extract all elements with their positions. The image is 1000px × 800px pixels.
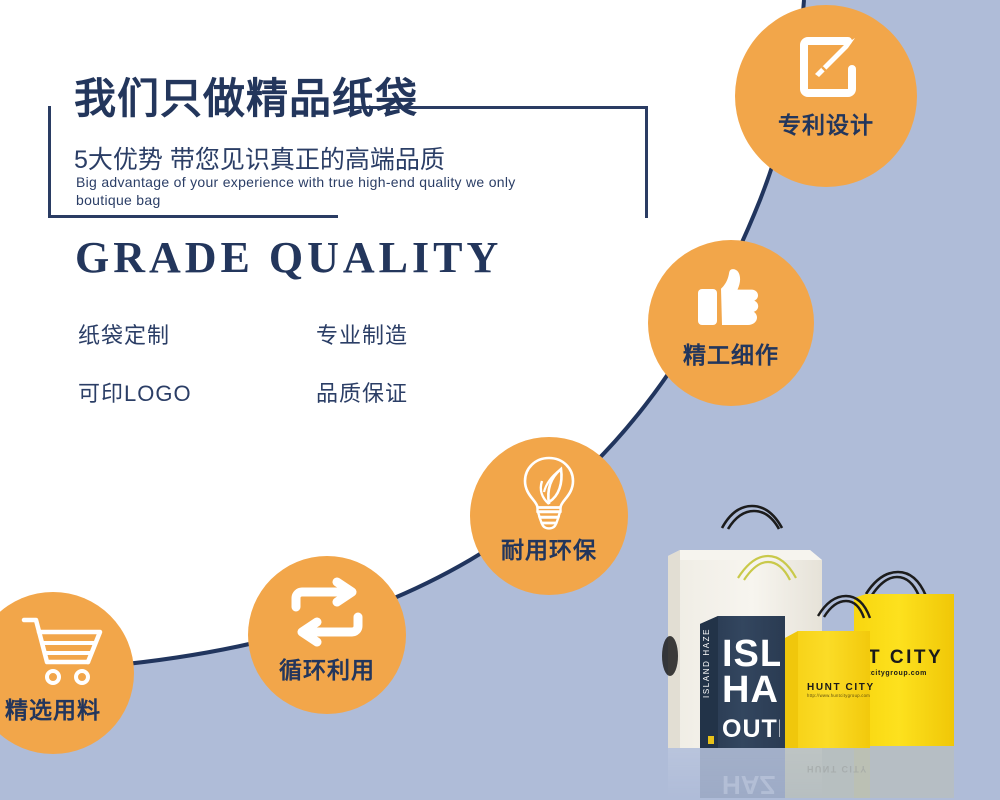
product-photo-paper-bags: ISLAND HAZE ISLA HAZ OUTFIT T CITY tcity… [640, 498, 1000, 800]
bag-yellow-large-brand: T CITY [868, 647, 943, 668]
recycle-arrows-icon [248, 576, 406, 648]
bag-navy-side-text: ISLAND HAZE [702, 628, 711, 698]
design-board-brush-icon [735, 27, 917, 107]
bag-yellow-small-url: http://www.huntcitygroup.com [807, 693, 870, 698]
feature-item-pro-manufacture: 专业制造 [316, 318, 408, 350]
lightbulb-leaf-icon [470, 453, 628, 529]
page-title: 我们只做精品纸袋 [74, 78, 418, 120]
bag-yellow-small-brand: HUNT CITY [807, 682, 875, 693]
badge-label-recyclable: 循环利用 [248, 651, 406, 685]
frame-right-rule [645, 106, 648, 218]
feature-item-logo-print: 可印LOGO [78, 376, 316, 408]
badge-label-patent-design: 专利设计 [735, 106, 917, 140]
feature-row: 纸袋定制 专业制造 [78, 318, 458, 350]
badge-label-eco-durable: 耐用环保 [470, 531, 628, 565]
badge-label-select-material: 精选用料 [0, 691, 134, 725]
badge-fine-craft[interactable]: 精工细作 [648, 240, 814, 406]
feature-row: 可印LOGO 品质保证 [78, 376, 458, 408]
feature-word-grid: 纸袋定制 专业制造 可印LOGO 品质保证 [78, 318, 458, 434]
grade-quality-heading: GRADE QUALITY [75, 232, 502, 283]
frame-bottom-rule [48, 215, 338, 218]
page-subtitle: 5大优势 带您见识真正的高端品质 [74, 140, 445, 176]
header-block: 我们只做精品纸袋 5大优势 带您见识真正的高端品质 Big advantage … [48, 78, 648, 228]
badge-label-fine-craft: 精工细作 [648, 336, 814, 370]
frame-left-rule [48, 106, 51, 218]
svg-text:ISLAND HAZE: ISLAND HAZE [702, 628, 711, 698]
svg-text:HUNT CITY: HUNT CITY [807, 764, 868, 774]
thumbs-up-icon [648, 258, 814, 332]
feature-item-custom-bag: 纸袋定制 [78, 318, 316, 350]
badge-recyclable[interactable]: 循环利用 [248, 556, 406, 714]
promo-banner: 我们只做精品纸袋 5大优势 带您见识真正的高端品质 Big advantage … [0, 0, 1000, 800]
feature-item-quality-guarantee: 品质保证 [316, 376, 408, 408]
svg-text:HAZ: HAZ [722, 770, 776, 800]
bag-yellow-large-url: tcitygroup.com [868, 670, 927, 677]
badge-eco-durable[interactable]: 耐用环保 [470, 437, 628, 595]
shopping-cart-icon [0, 614, 134, 686]
badge-patent-design[interactable]: 专利设计 [735, 5, 917, 187]
bag-reflections: HAZ HUNT CITY [668, 746, 954, 800]
page-subtitle-english: Big advantage of your experience with tr… [76, 174, 556, 209]
